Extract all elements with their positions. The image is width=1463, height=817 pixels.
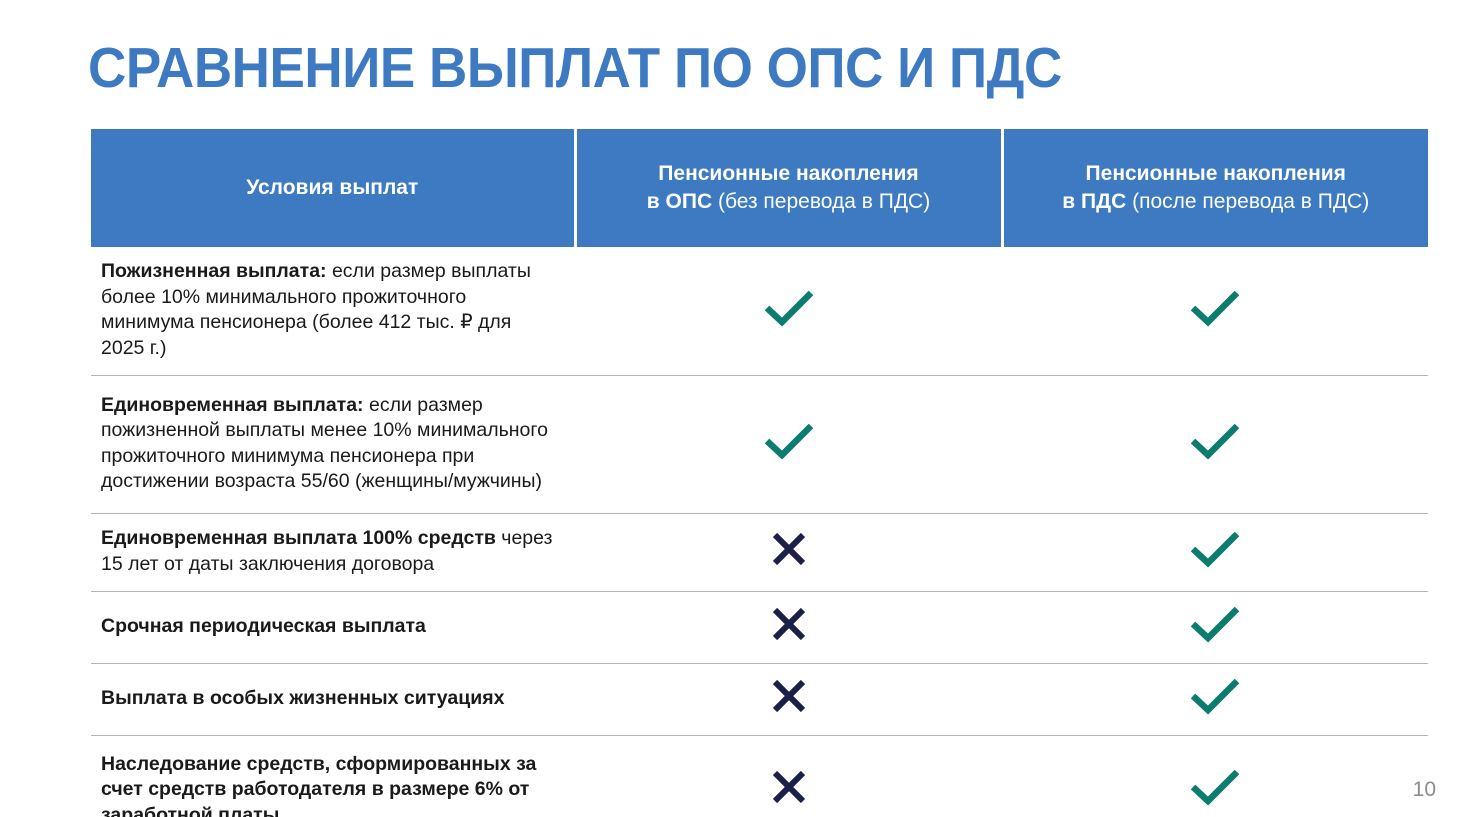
column-header-conditions-label: Условия выплат <box>105 174 560 202</box>
ops-mark-cell <box>575 592 1002 664</box>
condition-title: Наследование средств, сформированных за … <box>101 753 536 817</box>
condition-title: Пожизненная выплата: <box>101 260 327 282</box>
cross-icon <box>770 530 808 568</box>
condition-title: Срочная периодическая выплата <box>101 615 426 637</box>
pds-mark-cell <box>1002 664 1428 736</box>
condition-cell: Наследование средств, сформированных за … <box>91 736 575 817</box>
cross-icon <box>770 605 808 643</box>
slide-root: СРАВНЕНИЕ ВЫПЛАТ ПО ОПС И ПДС Условия вы… <box>0 0 1463 817</box>
table-row: Единовременная выплата 100% средств чере… <box>91 514 1428 592</box>
column-header-ops: Пенсионные накопления в ОПС (без перевод… <box>575 129 1002 247</box>
condition-title: Выплата в особых жизненных ситуациях <box>101 687 504 709</box>
check-icon <box>1189 767 1241 807</box>
comparison-table: Условия выплат Пенсионные накопления в О… <box>91 129 1428 817</box>
check-icon <box>763 421 815 461</box>
ops-mark-cell <box>575 514 1002 592</box>
cross-icon <box>770 677 808 715</box>
condition-title: Единовременная выплата: <box>101 394 364 416</box>
page-title: СРАВНЕНИЕ ВЫПЛАТ ПО ОПС И ПДС <box>88 36 1062 100</box>
column-header-pds-line2-bold: в ПДС <box>1062 190 1132 213</box>
table-row: Пожизненная выплата: если размер выплаты… <box>91 247 1428 376</box>
check-icon <box>1189 529 1241 569</box>
cross-icon <box>770 768 808 806</box>
check-icon <box>763 288 815 328</box>
condition-title: Единовременная выплата 100% средств <box>101 527 496 549</box>
table-row: Выплата в особых жизненных ситуациях <box>91 664 1428 736</box>
pds-mark-cell <box>1002 247 1428 376</box>
ops-mark-cell <box>575 376 1002 514</box>
pds-mark-cell <box>1002 736 1428 817</box>
ops-mark-cell <box>575 664 1002 736</box>
column-header-ops-line2-bold: в ОПС <box>647 190 718 213</box>
table-row: Срочная периодическая выплата <box>91 592 1428 664</box>
column-header-ops-line2-light: (без перевода в ПДС) <box>718 190 930 213</box>
table-row: Наследование средств, сформированных за … <box>91 736 1428 817</box>
table-header-row: Условия выплат Пенсионные накопления в О… <box>91 129 1428 247</box>
column-header-conditions: Условия выплат <box>91 129 575 247</box>
check-icon <box>1189 421 1241 461</box>
table-row: Единовременная выплата: если размер пожи… <box>91 376 1428 514</box>
column-header-pds-line2-light: (после перевода в ПДС) <box>1132 190 1369 213</box>
ops-mark-cell <box>575 247 1002 376</box>
page-number: 10 <box>1413 778 1436 802</box>
ops-mark-cell <box>575 736 1002 817</box>
column-header-pds: Пенсионные накопления в ПДС (после перев… <box>1002 129 1428 247</box>
check-icon <box>1189 604 1241 644</box>
check-icon <box>1189 288 1241 328</box>
table-body: Пожизненная выплата: если размер выплаты… <box>91 247 1428 817</box>
pds-mark-cell <box>1002 592 1428 664</box>
table-header: Условия выплат Пенсионные накопления в О… <box>91 129 1428 247</box>
column-header-pds-line1: Пенсионные накопления <box>1018 160 1415 188</box>
pds-mark-cell <box>1002 376 1428 514</box>
check-icon <box>1189 676 1241 716</box>
condition-cell: Пожизненная выплата: если размер выплаты… <box>91 247 575 376</box>
condition-cell: Единовременная выплата 100% средств чере… <box>91 514 575 592</box>
condition-cell: Выплата в особых жизненных ситуациях <box>91 664 575 736</box>
column-header-ops-line1: Пенсионные накопления <box>591 160 987 188</box>
condition-cell: Единовременная выплата: если размер пожи… <box>91 376 575 514</box>
pds-mark-cell <box>1002 514 1428 592</box>
condition-cell: Срочная периодическая выплата <box>91 592 575 664</box>
